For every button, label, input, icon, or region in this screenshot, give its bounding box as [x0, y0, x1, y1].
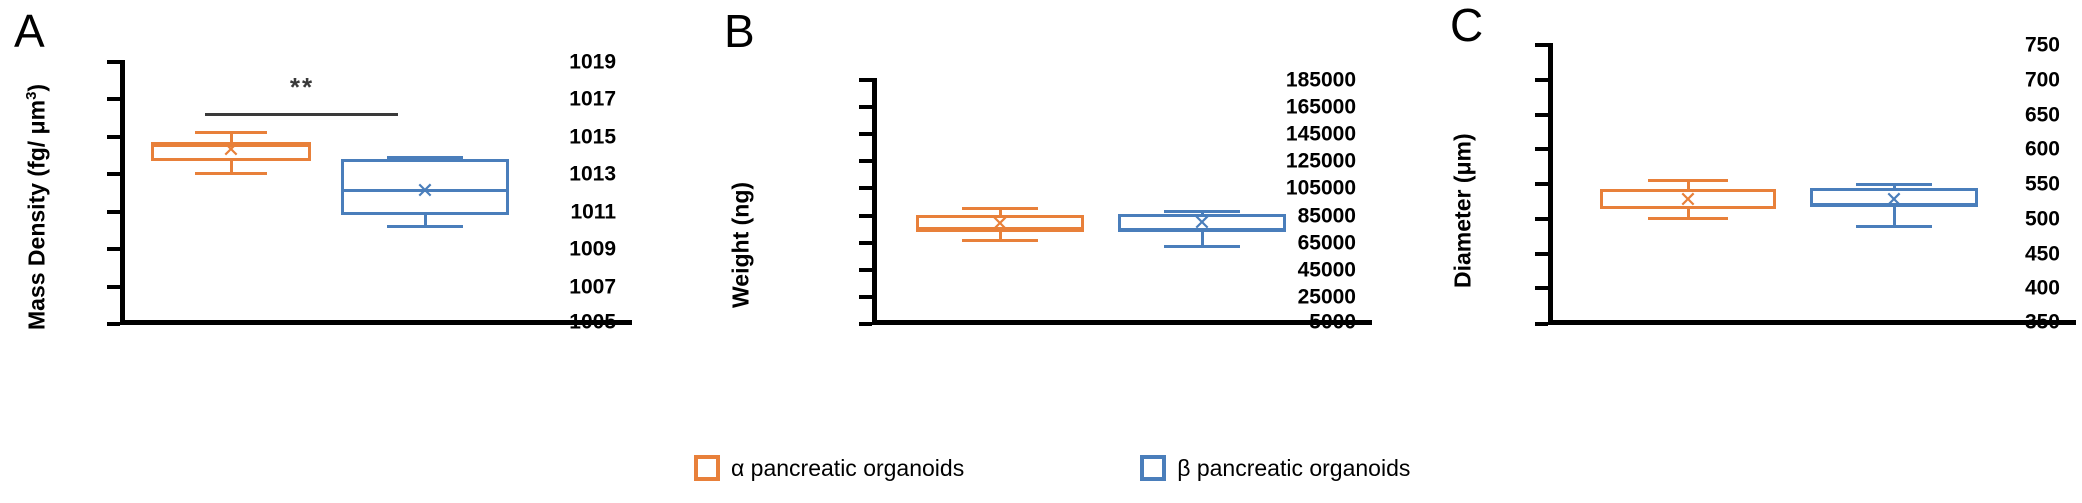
panel-b-tick-label: 85000 — [1298, 205, 1356, 226]
panel-b-tick-mark — [859, 214, 872, 218]
box-mean-marker: ✕ — [1193, 212, 1211, 234]
box-whisker-cap-lower — [1856, 225, 1932, 228]
panel-a-tick-mark — [107, 322, 120, 326]
box-mean-marker: ✕ — [991, 213, 1009, 235]
panel-b-tick-label: 145000 — [1286, 124, 1356, 145]
panel-a-tick-mark — [107, 135, 120, 139]
panel-b-letter: B — [724, 8, 755, 54]
panel-b-tick-label: 5000 — [1309, 312, 1356, 333]
panel-c-letter: C — [1450, 2, 1483, 48]
panel-a-axis-title-tail: ) — [24, 84, 50, 92]
legend-label-alpha: α pancreatic organoids — [731, 457, 964, 480]
panel-b-tick-mark — [859, 322, 872, 326]
panel-b-axis-title-main: Weight (ng) — [728, 182, 754, 308]
panel-a-box-alpha: ✕ — [151, 60, 311, 325]
panel-b-box-alpha: ✕ — [916, 78, 1084, 325]
box-whisker-cap-lower — [1648, 217, 1728, 220]
panel-a-tick-label: 1015 — [569, 126, 616, 147]
panel-b: B Weight (ng) 185000 165000 145000 12500… — [700, 0, 1400, 503]
panel-c-tick-mark — [1535, 286, 1548, 290]
panel-a-letter: A — [14, 8, 45, 54]
panel-b-tick-label: 165000 — [1286, 97, 1356, 118]
panel-b-tick-mark — [859, 78, 872, 82]
panel-b-tick-label: 45000 — [1298, 259, 1356, 280]
legend-swatch-blue-icon — [1140, 455, 1166, 481]
panel-a-tick-mark — [107, 285, 120, 289]
panel-a-tick-label: 1007 — [569, 276, 616, 297]
panel-b-tick-mark — [859, 241, 872, 245]
panel-c-y-axis-line — [1548, 43, 1553, 325]
panel-c-tick-label: 350 — [2025, 312, 2060, 333]
panel-c-tick-label: 650 — [2025, 104, 2060, 125]
panel-b-tick-mark — [859, 186, 872, 190]
panel-a-tick-mark — [107, 60, 120, 64]
panel-c-axis-title: Diameter (μm) — [1450, 133, 1475, 288]
panel-b-plot-area: 185000 165000 145000 125000 105000 85000… — [872, 78, 1372, 325]
legend-item-alpha[interactable]: α pancreatic organoids — [694, 455, 964, 481]
panel-b-tick-mark — [859, 105, 872, 109]
panel-a-tick-label: 1013 — [569, 164, 616, 185]
box-whisker-cap-lower — [195, 172, 267, 175]
panel-a-tick-mark — [107, 210, 120, 214]
panel-c-tick-mark — [1535, 113, 1548, 117]
panel-b-tick-label: 125000 — [1286, 151, 1356, 172]
panel-b-tick-label: 185000 — [1286, 70, 1356, 91]
panel-a-plot-area: 1019 1017 1015 1013 1011 1009 1007 1005 … — [120, 60, 632, 325]
panel-a-y-axis-line — [120, 60, 125, 325]
panel-c-tick-mark — [1535, 182, 1548, 186]
panel-a-box-beta: ✕ — [341, 60, 509, 325]
panel-a-tick-label: 1009 — [569, 239, 616, 260]
panel-a-tick-mark — [107, 172, 120, 176]
legend-item-beta[interactable]: β pancreatic organoids — [1140, 455, 1410, 481]
box-mean-marker: ✕ — [416, 180, 434, 202]
panel-b-axis-title: Weight (ng) — [728, 182, 753, 308]
panel-b-tick-label: 25000 — [1298, 286, 1356, 307]
panel-c-box-alpha: ✕ — [1600, 43, 1776, 325]
panel-a: A Mass Density (fg/ μm3) 1019 1017 1015 … — [0, 0, 700, 503]
box-whisker-cap-lower — [387, 225, 463, 228]
panel-a-tick-label: 1017 — [569, 89, 616, 110]
panel-a-axis-title-sup: 3 — [23, 92, 40, 100]
box-mean-marker: ✕ — [222, 139, 240, 161]
box-whisker-lower — [424, 215, 427, 224]
panel-c-tick-mark — [1535, 78, 1548, 82]
panel-c-tick-mark — [1535, 43, 1548, 47]
panel-c-tick-mark — [1535, 252, 1548, 256]
panel-b-tick-label: 105000 — [1286, 178, 1356, 199]
panel-c-tick-mark — [1535, 217, 1548, 221]
panel-a-tick-mark — [107, 247, 120, 251]
panel-b-y-axis-line — [872, 78, 877, 325]
panel-c-tick-label: 600 — [2025, 139, 2060, 160]
panel-c-tick-label: 500 — [2025, 208, 2060, 229]
panel-b-tick-mark — [859, 268, 872, 272]
box-mean-marker: ✕ — [1885, 189, 1903, 211]
panel-b-tick-mark — [859, 132, 872, 136]
box-whisker-cap-lower — [962, 239, 1038, 242]
figure-root: A Mass Density (fg/ μm3) 1019 1017 1015 … — [0, 0, 2082, 503]
legend: α pancreatic organoids β pancreatic orga… — [694, 455, 1410, 481]
panel-a-tick-label: 1019 — [569, 52, 616, 73]
box-whisker-cap-lower — [1164, 245, 1240, 248]
panel-b-box-beta: ✕ — [1118, 78, 1286, 325]
panel-b-tick-mark — [859, 295, 872, 299]
legend-swatch-orange-icon — [694, 455, 720, 481]
panel-b-tick-mark — [859, 159, 872, 163]
panel-c-axis-title-main: Diameter (μm) — [1450, 133, 1476, 288]
panel-c-tick-label: 750 — [2025, 35, 2060, 56]
panel-b-tick-label: 65000 — [1298, 232, 1356, 253]
panel-a-axis-title-main: Mass Density (fg/ μm — [24, 100, 50, 330]
panel-a-axis-title: Mass Density (fg/ μm3) — [24, 84, 49, 330]
box-mean-marker: ✕ — [1679, 189, 1697, 211]
panel-c-tick-label: 450 — [2025, 243, 2060, 264]
panel-a-tick-label: 1005 — [569, 312, 616, 333]
panel-c-tick-mark — [1535, 147, 1548, 151]
panel-c-box-beta: ✕ — [1810, 43, 1978, 325]
legend-label-beta: β pancreatic organoids — [1177, 457, 1410, 480]
panel-c-tick-label: 700 — [2025, 69, 2060, 90]
panel-a-tick-label: 1011 — [570, 201, 616, 222]
panel-c-plot-area: 750 700 650 600 550 500 450 400 350 — [1548, 43, 2076, 325]
panel-c-tick-mark — [1535, 322, 1548, 326]
panel-c-tick-label: 400 — [2025, 278, 2060, 299]
panel-a-tick-mark — [107, 97, 120, 101]
box-whisker-lower — [230, 161, 233, 172]
panel-c-tick-label: 550 — [2025, 174, 2060, 195]
panel-c: C Diameter (μm) 750 700 650 600 550 500 … — [1400, 0, 2082, 503]
